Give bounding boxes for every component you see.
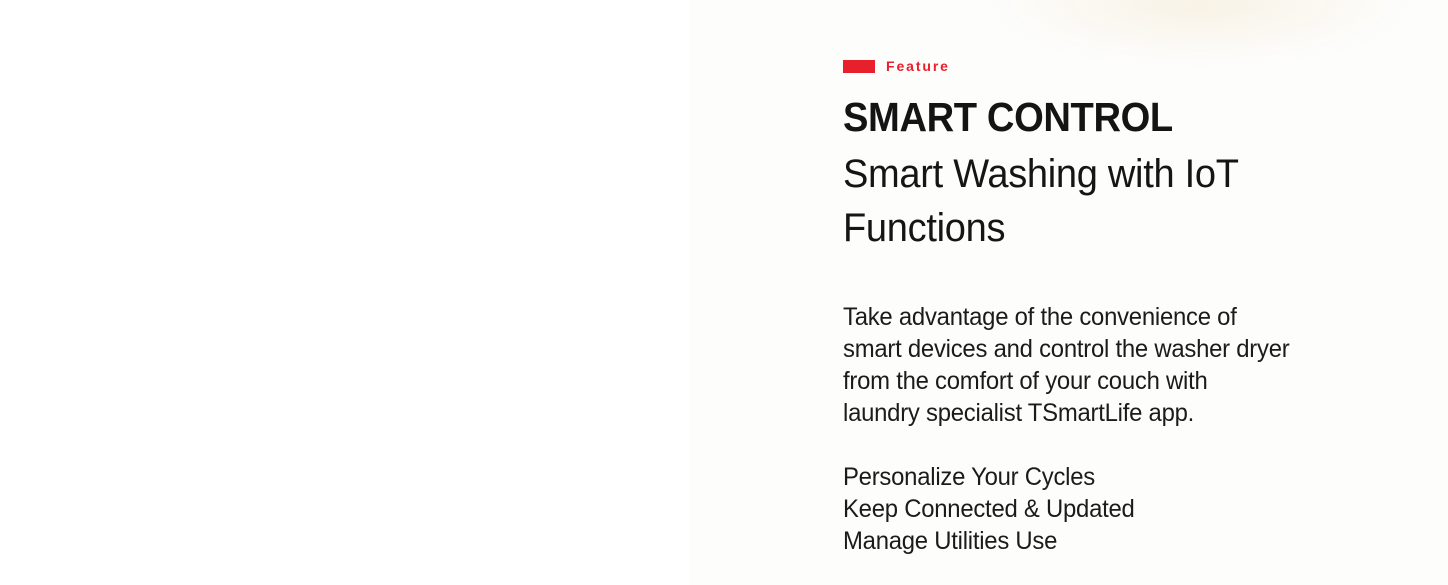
benefits-list: Personalize Your Cycles Keep Connected &… <box>843 461 1378 557</box>
subheadline-line: Functions <box>843 201 1242 255</box>
eyebrow: Feature <box>843 59 1403 73</box>
page-title: SMART CONTROL <box>843 95 1364 139</box>
body-copy-line: laundry specialist TSmartLife app. <box>843 397 1378 429</box>
body-copy-line: from the comfort of your couch with <box>843 365 1378 397</box>
feature-slide: Feature SMART CONTROL Smart Washing with… <box>0 0 1448 585</box>
body-copy-line: smart devices and control the washer dry… <box>843 333 1378 365</box>
benefit-item: Keep Connected & Updated <box>843 493 1378 525</box>
benefit-item: Manage Utilities Use <box>843 525 1378 557</box>
body-copy: Take advantage of the convenience of sma… <box>843 301 1378 429</box>
content-panel: Feature SMART CONTROL Smart Washing with… <box>690 0 1448 585</box>
body-copy-line: Take advantage of the convenience of <box>843 301 1378 333</box>
subheadline: Smart Washing with IoT Functions <box>843 147 1242 255</box>
eyebrow-label: Feature <box>886 59 950 73</box>
content-stack: Feature SMART CONTROL Smart Washing with… <box>843 0 1403 557</box>
subheadline-line: Smart Washing with IoT <box>843 147 1242 201</box>
product-image-area <box>0 0 690 585</box>
red-square-marker-icon <box>843 60 875 73</box>
benefit-item: Personalize Your Cycles <box>843 461 1378 493</box>
